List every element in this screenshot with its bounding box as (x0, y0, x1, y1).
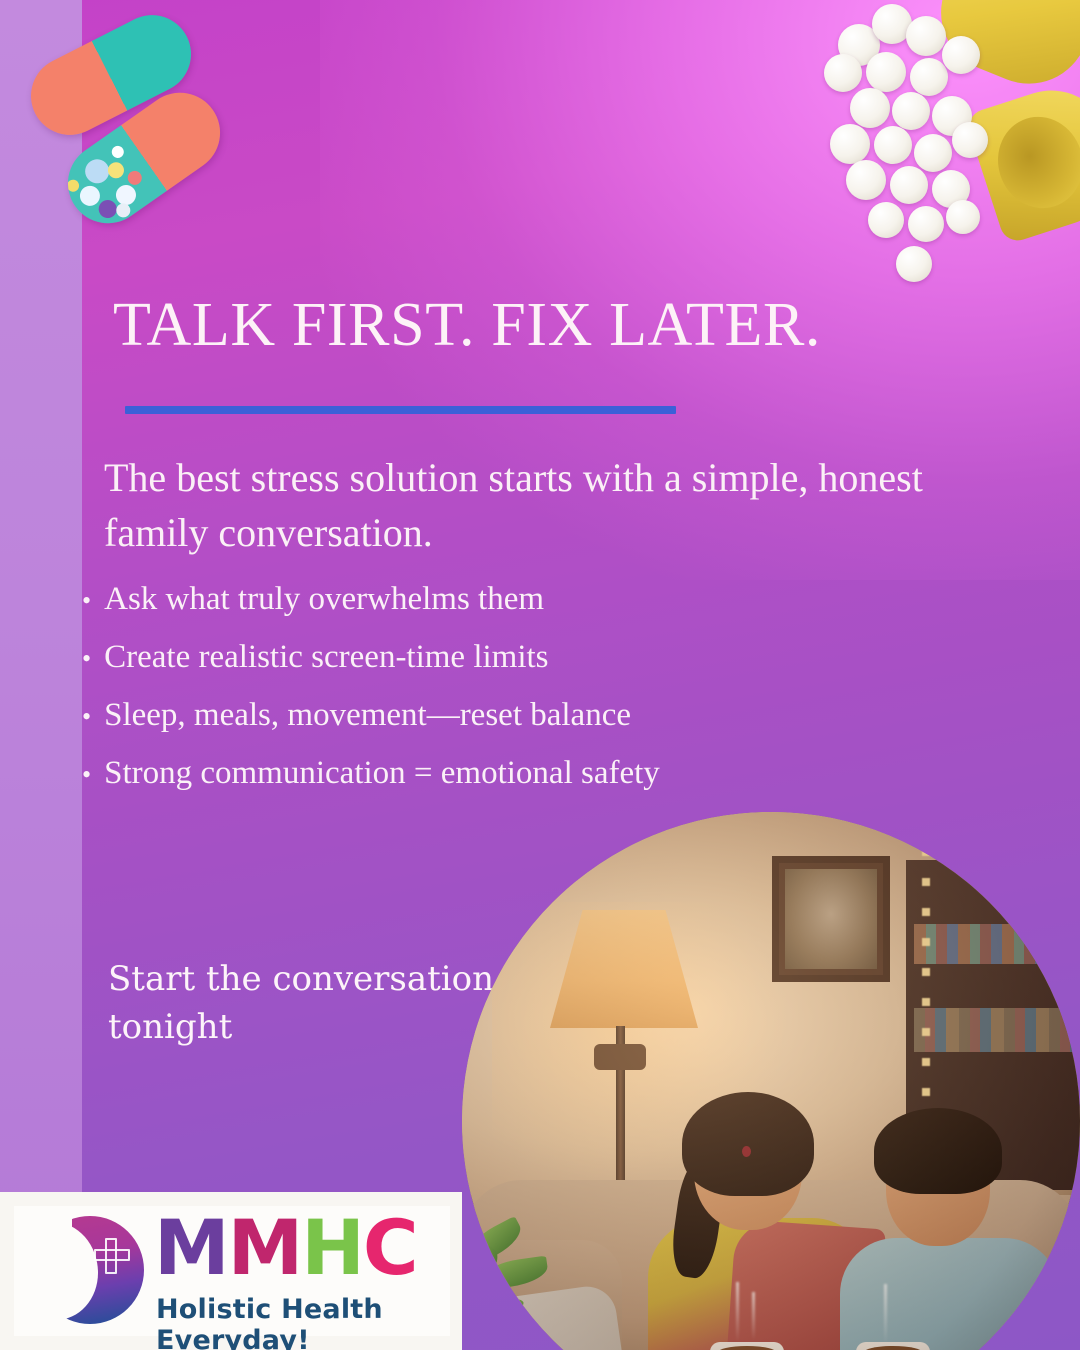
list-item: • Strong communication = emotional safet… (82, 757, 962, 790)
pill (942, 36, 980, 74)
pill (896, 246, 932, 282)
list-item-label: Sleep, meals, movement—reset balance (104, 699, 631, 732)
photo-vignette (462, 812, 1080, 1350)
pill (906, 16, 946, 56)
page-title: TALK FIRST. FIX LATER. (113, 293, 973, 358)
bullet-dot-icon: • (82, 762, 91, 788)
list-item: • Sleep, meals, movement—reset balance (82, 699, 962, 732)
bead (105, 159, 127, 181)
family-conversation-photo (462, 812, 1080, 1350)
bullet-dot-icon: • (82, 646, 91, 672)
list-item: • Create realistic screen-time limits (82, 641, 962, 674)
pill (910, 58, 948, 96)
pill (892, 92, 930, 130)
pill (830, 124, 870, 164)
pill (868, 202, 904, 238)
capsule-beads (52, 125, 167, 239)
pill (824, 54, 862, 92)
pill-capsules-decoration (8, 14, 238, 254)
call-to-action-text: Start the conversation tonight (108, 955, 508, 1052)
bullet-dot-icon: • (82, 588, 91, 614)
brand-tagline: Holistic Health Everyday! (156, 1294, 450, 1350)
list-item-label: Create realistic screen-time limits (104, 641, 548, 674)
medical-plus-icon (94, 1238, 128, 1272)
pill-bottle-open-icon (964, 75, 1080, 245)
subheading-text: The best stress solution starts with a s… (104, 450, 1016, 560)
pill (850, 88, 890, 128)
brand-logo-inner: MMHC Holistic Health Everyday! (14, 1206, 450, 1336)
list-item-label: Strong communication = emotional safety (104, 757, 660, 790)
brand-wordmark: MMHC (154, 1210, 417, 1286)
pill (914, 134, 952, 172)
poster-canvas: TALK FIRST. FIX LATER. The best stress s… (0, 0, 1080, 1350)
brand-letter-m2: M (228, 1203, 302, 1292)
pill (890, 166, 928, 204)
bead (65, 177, 82, 194)
list-item-label: Ask what truly overwhelms them (104, 583, 544, 616)
pill (952, 122, 988, 158)
spilled-pills-decoration (810, 0, 1080, 300)
pill (908, 206, 944, 242)
pill (866, 52, 906, 92)
bullet-dot-icon: • (82, 704, 91, 730)
bullet-list: • Ask what truly overwhelms them • Creat… (82, 583, 962, 815)
pill (946, 200, 980, 234)
pill (874, 126, 912, 164)
brand-letter-m1: M (154, 1203, 228, 1292)
title-divider (125, 406, 676, 414)
brand-letter-c: C (363, 1203, 417, 1292)
list-item: • Ask what truly overwhelms them (82, 583, 962, 616)
pill (846, 160, 886, 200)
bead (109, 144, 126, 161)
brand-letter-h: H (301, 1203, 363, 1292)
head-profile-plus-icon (36, 1216, 144, 1324)
brand-logo-card: MMHC Holistic Health Everyday! (0, 1192, 462, 1350)
